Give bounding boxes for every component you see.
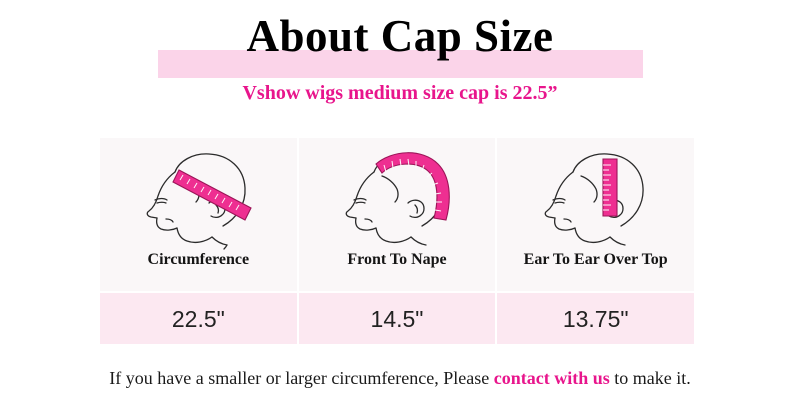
measurement-table: Circumference — [100, 138, 694, 344]
title-block: About Cap Size — [0, 8, 800, 70]
head-profile-front-to-nape-tape-icon — [299, 138, 496, 250]
footer-note: If you have a smaller or larger circumfe… — [0, 366, 800, 390]
measurement-cell-ear-to-ear: Ear To Ear Over Top — [497, 138, 694, 291]
table-row-illustrations: Circumference — [100, 138, 694, 291]
page-title: About Cap Size — [0, 8, 800, 64]
table-row-values: 22.5" 14.5" 13.75" — [100, 293, 694, 344]
measurement-label-front-to-nape: Front To Nape — [347, 250, 446, 270]
measurement-cell-circumference: Circumference — [100, 138, 297, 291]
measurement-value-ear-to-ear: 13.75" — [563, 305, 629, 333]
measurement-label-ear-to-ear: Ear To Ear Over Top — [524, 250, 668, 270]
contact-with-us-link[interactable]: contact with us — [494, 368, 610, 388]
head-profile-ear-to-ear-tape-icon — [497, 138, 694, 250]
cap-size-infographic: About Cap Size Vshow wigs medium size ca… — [0, 0, 800, 417]
measurement-value-circumference: 22.5" — [172, 305, 225, 333]
measurement-label-circumference: Circumference — [148, 250, 250, 270]
subtitle: Vshow wigs medium size cap is 22.5” — [0, 80, 800, 106]
head-profile-circumference-tape-icon — [100, 138, 297, 250]
footer-text-before: If you have a smaller or larger circumfe… — [109, 368, 493, 388]
measurement-cell-front-to-nape: Front To Nape — [299, 138, 496, 291]
footer-text-after: to make it. — [610, 368, 691, 388]
measurement-value-cell-circumference: 22.5" — [100, 293, 297, 344]
measurement-value-cell-front-to-nape: 14.5" — [299, 293, 496, 344]
measurement-value-front-to-nape: 14.5" — [371, 305, 424, 333]
measurement-value-cell-ear-to-ear: 13.75" — [497, 293, 694, 344]
